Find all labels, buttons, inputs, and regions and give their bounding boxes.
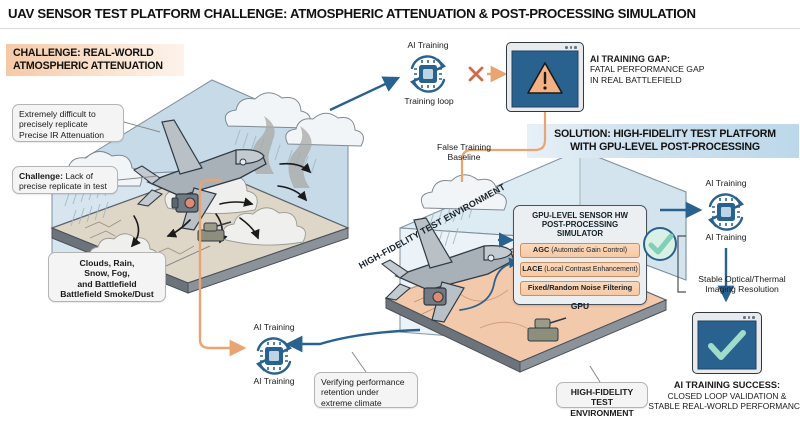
training-right-label-above: AI Training bbox=[690, 178, 762, 188]
ai-training-gap-text: AI TRAINING GAP: FATAL PERFORMANCE GAP I… bbox=[590, 54, 770, 86]
gpu-row-agc-desc: (Automatic Gain Control) bbox=[549, 247, 627, 254]
diagram-canvas: UAV SENSOR TEST PLATFORM CHALLENGE: ATMO… bbox=[0, 0, 800, 432]
gap-heading: AI TRAINING GAP: bbox=[590, 54, 770, 64]
gpu-row-lace-desc: (Local Contrast Enhancement) bbox=[542, 266, 637, 273]
false-baseline-label: False Training Baseline bbox=[418, 142, 510, 163]
monitor-dots-bottom bbox=[743, 316, 755, 319]
gap-line-2: IN REAL BATTLEFIELD bbox=[590, 75, 770, 86]
gpu-row-noise[interactable]: Fixed/Random Noise Filtering bbox=[520, 281, 640, 296]
stable-resolution-line-2: Imaging Resolution bbox=[686, 284, 798, 294]
false-baseline-line-1: False Training bbox=[418, 142, 510, 152]
warning-screen bbox=[512, 51, 578, 107]
training-bottom-label-below: AI Training bbox=[238, 376, 310, 386]
success-line-2: STABLE REAL-WORLD PERFORMANCE bbox=[642, 401, 800, 412]
checkmark-icon bbox=[638, 222, 682, 266]
gpu-row-noise-abbr: Fixed/Random Noise Filtering bbox=[528, 283, 632, 292]
stable-resolution-line-1: Stable Optical/Thermal bbox=[686, 274, 798, 284]
gpu-title-line-1: GPU-LEVEL SENSOR HW bbox=[520, 211, 640, 220]
false-baseline-line-2: Baseline bbox=[418, 152, 510, 162]
ai-training-gap-monitor bbox=[506, 42, 584, 112]
ai-training-success-text: AI TRAINING SUCCESS: CLOSED LOOP VALIDAT… bbox=[642, 380, 800, 412]
gpu-title-line-2: POST-PROCESSING SIMULATOR bbox=[520, 220, 640, 238]
gpu-row-agc[interactable]: AGC (Automatic Gain Control) bbox=[520, 243, 640, 258]
monitor-dots-top bbox=[565, 46, 577, 49]
gpu-footer-label: GPU bbox=[520, 301, 640, 311]
success-screen bbox=[698, 321, 756, 369]
success-heading: AI TRAINING SUCCESS: bbox=[642, 380, 800, 391]
chip-icon-right bbox=[702, 190, 750, 234]
stable-resolution-label: Stable Optical/Thermal Imaging Resolutio… bbox=[686, 274, 798, 295]
gpu-row-lace[interactable]: LACE (Local Contrast Enhancement) bbox=[520, 262, 640, 277]
training-right-label-below: AI Training bbox=[690, 232, 762, 242]
gpu-row-agc-abbr: AGC bbox=[533, 245, 549, 254]
chip-icon-bottom bbox=[250, 334, 298, 378]
success-line-1: CLOSED LOOP VALIDATION & bbox=[642, 391, 800, 402]
gpu-row-lace-abbr: LACE bbox=[522, 264, 542, 273]
gpu-post-processing-module: GPU-LEVEL SENSOR HW POST-PROCESSING SIMU… bbox=[513, 205, 647, 305]
gap-line-1: FATAL PERFORMANCE GAP bbox=[590, 64, 770, 75]
training-bottom-label-above: AI Training bbox=[238, 322, 310, 332]
ai-training-success-monitor bbox=[692, 312, 762, 374]
